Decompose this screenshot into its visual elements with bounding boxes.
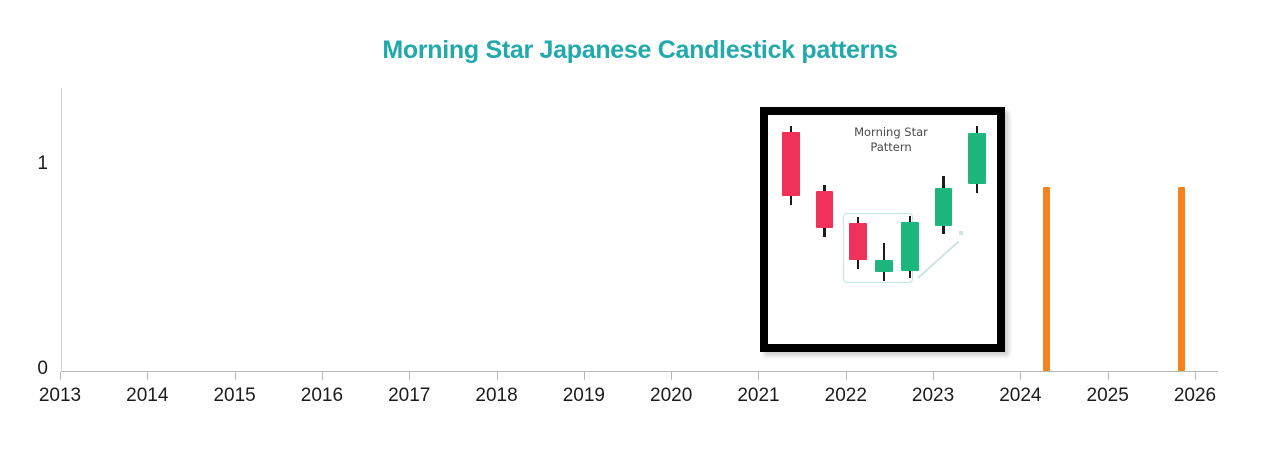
candle-body-down <box>816 191 834 228</box>
candle-body-down <box>849 223 867 260</box>
x-axis-tick-label: 2026 <box>1160 385 1230 407</box>
x-axis-tick-label: 2015 <box>200 385 270 407</box>
pattern-caption-line-1: Morning Star <box>826 125 956 140</box>
uptrend-arrow-head-icon <box>959 231 963 235</box>
x-axis-tick-label: 2013 <box>25 385 95 407</box>
x-axis-tick-label: 2019 <box>549 385 619 407</box>
x-axis-tick-mark <box>235 372 236 380</box>
x-axis-tick-label: 2018 <box>462 385 532 407</box>
x-axis-tick-label: 2017 <box>374 385 444 407</box>
candle-body-up <box>875 260 893 272</box>
x-axis-tick-mark <box>497 372 498 380</box>
x-axis-tick-mark <box>1020 372 1021 380</box>
x-axis-tick-label: 2023 <box>898 385 968 407</box>
x-axis-tick-label: 2014 <box>112 385 182 407</box>
bar <box>1178 187 1185 372</box>
pattern-caption: Morning Star Pattern <box>826 125 956 155</box>
x-axis-tick-mark <box>758 372 759 380</box>
y-axis-tick-label: 0 <box>12 358 48 380</box>
x-axis-tick-mark <box>409 372 410 380</box>
y-axis-tick-label: 1 <box>12 153 48 175</box>
x-axis-tick-label: 2020 <box>636 385 706 407</box>
page-title: Morning Star Japanese Candlestick patter… <box>0 36 1280 65</box>
x-axis-tick-label: 2025 <box>1073 385 1143 407</box>
x-axis-tick-mark <box>584 372 585 380</box>
x-axis-tick-mark <box>1195 372 1196 380</box>
pattern-canvas: Morning Star Pattern <box>768 115 997 344</box>
x-axis-tick-mark <box>322 372 323 380</box>
x-axis-tick-label: 2016 <box>287 385 357 407</box>
candle-body-down <box>782 132 800 196</box>
x-axis-tick-mark <box>1108 372 1109 380</box>
candle-body-up <box>968 133 986 183</box>
candle-body-up <box>901 222 919 271</box>
x-axis-tick-mark <box>60 372 61 380</box>
x-axis-tick-mark <box>147 372 148 380</box>
pattern-caption-line-2: Pattern <box>826 140 956 155</box>
y-axis-line <box>61 88 62 372</box>
x-axis-tick-label: 2022 <box>811 385 881 407</box>
morning-star-pattern-illustration: Morning Star Pattern <box>760 107 1005 352</box>
x-axis-tick-mark <box>846 372 847 380</box>
x-axis-tick-mark <box>933 372 934 380</box>
uptrend-arrow-icon <box>917 240 959 278</box>
bar <box>1043 187 1050 372</box>
x-axis-tick-label: 2021 <box>723 385 793 407</box>
x-axis-tick-mark <box>671 372 672 380</box>
x-axis-tick-label: 2024 <box>985 385 1055 407</box>
candle-body-up <box>935 188 953 226</box>
